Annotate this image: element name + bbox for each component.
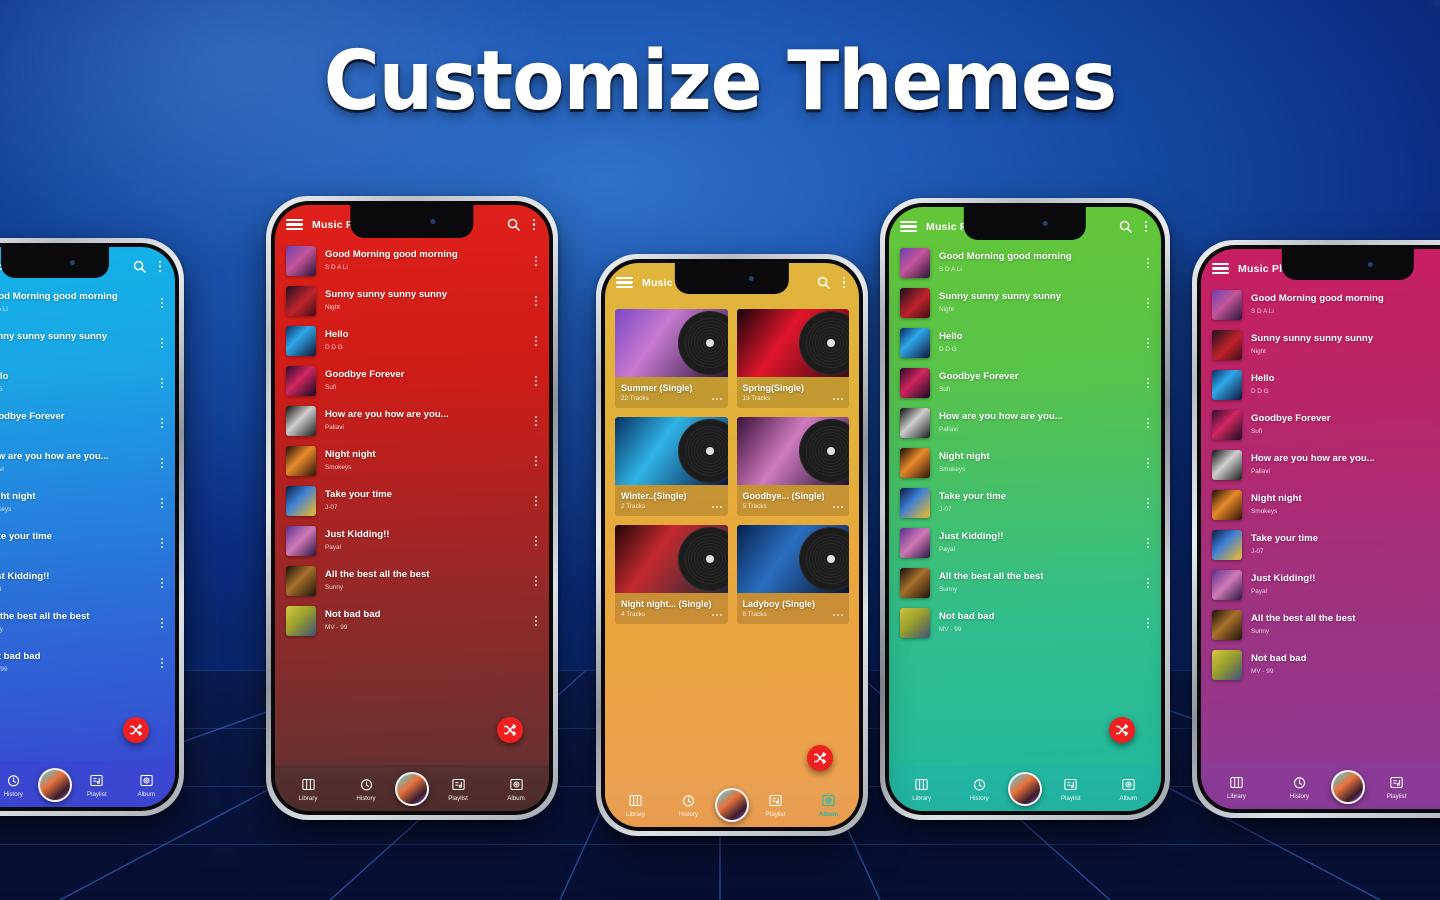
shuffle-fab-button[interactable]	[1109, 717, 1135, 743]
song-title: Not bad bad	[1251, 653, 1440, 665]
list-item[interactable]: Just Kidding!!Payal	[275, 521, 549, 561]
nav-label: Library	[299, 795, 318, 802]
album-art	[286, 446, 316, 476]
song-artist: Pallavi	[1251, 467, 1440, 477]
song-meta: All the best all the bestSunny	[1251, 613, 1440, 636]
album-footer: 2 Tracks	[615, 503, 728, 516]
nav-label: Album	[819, 811, 838, 818]
song-list[interactable]: Good Morning good morningS D A Li Sunny …	[1201, 285, 1440, 763]
row-overflow-icon[interactable]	[532, 496, 540, 506]
song-artist: D D G	[325, 343, 523, 353]
album-overflow-icon[interactable]	[712, 398, 722, 400]
nav-item-playlist[interactable]: Playlist	[1365, 775, 1428, 800]
song-artist: J-07	[0, 545, 149, 555]
nav-item-library[interactable]: Library	[893, 777, 951, 802]
song-title: Just Kidding!!	[1251, 573, 1440, 585]
song-title: Goodbye Forever	[939, 371, 1135, 383]
row-overflow-icon[interactable]	[532, 256, 540, 266]
song-meta: Take your timeJ-07	[0, 531, 149, 554]
album-overflow-icon[interactable]	[833, 614, 843, 616]
list-item[interactable]: HelloD D G	[0, 363, 175, 403]
nav-label: Library	[626, 811, 645, 818]
song-artist: Sufi	[939, 385, 1135, 395]
front-camera-icon	[70, 260, 75, 265]
nav-label: Playlist	[87, 791, 107, 798]
song-meta: Not bad badMV - 99	[0, 651, 149, 674]
album-cover	[737, 525, 850, 593]
row-overflow-icon[interactable]	[158, 538, 166, 548]
album-art	[900, 328, 930, 358]
song-meta: Just Kidding!!Payal	[939, 531, 1135, 554]
song-title: Not bad bad	[325, 609, 523, 621]
bottom-navigation-bar: Library History Playlist Album	[0, 761, 175, 807]
front-camera-icon	[430, 219, 435, 224]
song-list[interactable]: Good Morning good morningS D A Li Sunny …	[0, 283, 175, 761]
album-overflow-icon[interactable]	[833, 398, 843, 400]
album-track-count: 13 Tracks	[743, 395, 771, 402]
song-artist: J-07	[325, 503, 523, 513]
song-meta: Sunny sunny sunny sunnyNight	[0, 331, 149, 354]
album-cover	[737, 309, 850, 377]
song-artist: D D G	[1251, 387, 1440, 397]
nav-item-playlist[interactable]: Playlist	[72, 773, 122, 798]
row-overflow-icon[interactable]	[1144, 378, 1152, 388]
song-meta: Goodbye ForeverSufi	[1251, 413, 1440, 436]
nav-item-album[interactable]: Album	[1100, 777, 1158, 802]
list-item[interactable]: How are you how are you...Pallavi	[889, 403, 1161, 443]
song-title: Hello	[0, 371, 149, 383]
album-track-count: 2 Tracks	[621, 503, 645, 510]
phone-mockup-gold-theme: Music Player Summer (Single) 22 Tracks S…	[596, 254, 868, 836]
list-item[interactable]: Take your timeJ-07	[275, 481, 549, 521]
list-item[interactable]: All the best all the bestSunny	[0, 603, 175, 643]
list-item[interactable]: Just Kidding!!Payal	[1201, 565, 1440, 605]
song-artist: S D A Li	[325, 263, 523, 273]
nav-label: Library	[912, 795, 931, 802]
bottom-navigation-bar: Library History Playlist Album	[1201, 763, 1440, 809]
album-art	[286, 606, 316, 636]
row-overflow-icon[interactable]	[158, 458, 166, 468]
song-artist: Payal	[325, 543, 523, 553]
song-artist: MV - 99	[0, 665, 149, 675]
song-artist: D D G	[0, 385, 149, 395]
row-overflow-icon[interactable]	[1144, 418, 1152, 428]
album-cover	[615, 417, 728, 485]
nav-item-album[interactable]: Album	[802, 793, 855, 818]
hamburger-icon[interactable]	[616, 277, 633, 289]
row-overflow-icon[interactable]	[532, 416, 540, 426]
album-overflow-icon[interactable]	[712, 506, 722, 508]
row-overflow-icon[interactable]	[158, 498, 166, 508]
album-card[interactable]: Summer (Single) 22 Tracks	[615, 309, 728, 408]
hamburger-icon[interactable]	[1212, 263, 1229, 275]
row-overflow-icon[interactable]	[1144, 618, 1152, 628]
row-overflow-icon[interactable]	[158, 658, 166, 668]
search-icon[interactable]	[1118, 219, 1133, 234]
row-overflow-icon[interactable]	[1144, 258, 1152, 268]
album-art	[286, 286, 316, 316]
app-screen-pink: Music Player Good Morning good morningS …	[1201, 249, 1440, 809]
song-title: All the best all the best	[939, 571, 1135, 583]
history-clock-icon	[6, 773, 21, 788]
song-list[interactable]: Good Morning good morningS D A Li Sunny …	[275, 241, 549, 765]
row-overflow-icon[interactable]	[1144, 498, 1152, 508]
album-icon	[821, 793, 836, 808]
song-artist: Sufi	[1251, 427, 1440, 437]
nav-item-library[interactable]: Library	[279, 777, 337, 802]
app-screen-cyan: Music Player Good Morning good morningS …	[0, 247, 175, 807]
album-cover	[737, 417, 850, 485]
nav-item-history[interactable]: History	[951, 777, 1009, 802]
song-title: Night night	[939, 451, 1135, 463]
nav-label: History	[356, 795, 375, 802]
nav-label: History	[970, 795, 989, 802]
list-item[interactable]: How are you how are you...Pallavi	[275, 401, 549, 441]
user-avatar[interactable]	[395, 772, 429, 806]
row-overflow-icon[interactable]	[158, 298, 166, 308]
phone-body: Music Player Good Morning good morningS …	[271, 201, 553, 815]
nav-item-library[interactable]: Library	[609, 793, 662, 818]
song-list[interactable]: Good Morning good morningS D A Li Sunny …	[889, 243, 1161, 765]
list-item[interactable]: Sunny sunny sunny sunnyNight	[0, 323, 175, 363]
song-title: Good Morning good morning	[1251, 293, 1440, 305]
album-art	[900, 448, 930, 478]
search-icon[interactable]	[506, 217, 521, 232]
song-artist: Night	[0, 345, 149, 355]
song-title: Hello	[939, 331, 1135, 343]
song-title: Good Morning good morning	[939, 251, 1135, 263]
nav-item-history[interactable]: History	[0, 773, 38, 798]
song-artist: Payal	[939, 545, 1135, 555]
list-item[interactable]: Take your timeJ-07	[0, 523, 175, 563]
list-item[interactable]: All the best all the bestSunny	[275, 561, 549, 601]
list-item[interactable]: Take your timeJ-07	[889, 483, 1161, 523]
song-artist: Pallavi	[939, 425, 1135, 435]
nav-item-history[interactable]: History	[337, 777, 395, 802]
list-item[interactable]: Sunny sunny sunny sunnyNight	[1201, 325, 1440, 365]
user-avatar[interactable]	[1331, 770, 1365, 804]
song-artist: Sunny	[0, 625, 149, 635]
nav-item-playlist[interactable]: Playlist	[1042, 777, 1100, 802]
list-item[interactable]: Goodbye ForeverSufi	[889, 363, 1161, 403]
three-dot-menu-icon[interactable]	[530, 219, 538, 230]
song-artist: J-07	[939, 505, 1135, 515]
list-item[interactable]: Goodbye ForeverSufi	[275, 361, 549, 401]
song-meta: Night nightSmokeys	[325, 449, 523, 472]
row-overflow-icon[interactable]	[532, 536, 540, 546]
nav-item-playlist[interactable]: Playlist	[749, 793, 802, 818]
song-title: How are you how are you...	[1251, 453, 1440, 465]
row-overflow-icon[interactable]	[532, 616, 540, 626]
song-artist: S D A Li	[939, 265, 1135, 275]
album-name: Winter..(Single)	[615, 485, 728, 503]
list-item[interactable]: Night nightSmokeys	[1201, 485, 1440, 525]
song-artist: J-07	[1251, 547, 1440, 557]
phone-mockup-green-theme: Music Player Good Morning good morningS …	[880, 198, 1170, 820]
phone-mockup-cyan-theme: Music Player Good Morning good morningS …	[0, 238, 184, 816]
album-footer: 22 Tracks	[615, 395, 728, 408]
album-art	[1212, 410, 1242, 440]
row-overflow-icon[interactable]	[1144, 338, 1152, 348]
row-overflow-icon[interactable]	[158, 618, 166, 628]
song-title: Goodbye Forever	[0, 411, 149, 423]
song-artist: S D A Li	[1251, 307, 1440, 317]
album-card[interactable]: Spring(Single) 13 Tracks	[737, 309, 850, 408]
nav-label: Library	[1227, 793, 1246, 800]
nav-label: Playlist	[1387, 793, 1407, 800]
list-item[interactable]: Not bad badMV - 99	[1201, 645, 1440, 685]
album-art	[286, 366, 316, 396]
album-name: Spring(Single)	[737, 377, 850, 395]
history-clock-icon	[972, 777, 987, 792]
song-meta: Good Morning good morningS D A Li	[939, 251, 1135, 274]
row-overflow-icon[interactable]	[1144, 538, 1152, 548]
song-artist: MV - 99	[939, 625, 1135, 635]
row-overflow-icon[interactable]	[532, 336, 540, 346]
song-meta: Just Kidding!!Payal	[1251, 573, 1440, 596]
album-art	[900, 408, 930, 438]
shuffle-fab-button[interactable]	[807, 745, 833, 771]
app-screen-green: Music Player Good Morning good morningS …	[889, 207, 1161, 811]
list-item[interactable]: Just Kidding!!Payal	[0, 563, 175, 603]
three-dot-menu-icon[interactable]	[1142, 221, 1150, 232]
list-item[interactable]: Not bad badMV - 99	[889, 603, 1161, 643]
nav-item-history[interactable]: History	[1268, 775, 1331, 800]
album-name: Ladyboy (Single)	[737, 593, 850, 611]
song-title: Not bad bad	[939, 611, 1135, 623]
song-title: All the best all the best	[325, 569, 523, 581]
song-title: Not bad bad	[0, 651, 149, 663]
phone-body: Music Player Good Morning good morningS …	[0, 243, 179, 811]
list-item[interactable]: Just Kidding!!Payal	[889, 523, 1161, 563]
album-card[interactable]: Goodbye... (Single) 5 Tracks	[737, 417, 850, 516]
list-item[interactable]: Good Morning good morningS D A Li	[0, 283, 175, 323]
song-meta: Goodbye ForeverSufi	[939, 371, 1135, 394]
playlist-icon	[1063, 777, 1078, 792]
nav-item-playlist[interactable]: Playlist	[429, 777, 487, 802]
nav-item-album[interactable]: Album	[487, 777, 545, 802]
album-track-count: 22 Tracks	[621, 395, 649, 402]
album-art	[1212, 450, 1242, 480]
album-track-count: 5 Tracks	[743, 503, 767, 510]
song-meta: Not bad badMV - 99	[325, 609, 523, 632]
list-item[interactable]: Night nightSmokeys	[889, 443, 1161, 483]
app-screen-red: Music Player Good Morning good morningS …	[275, 205, 549, 811]
album-name: Summer (Single)	[615, 377, 728, 395]
history-clock-icon	[359, 777, 374, 792]
song-meta: Take your timeJ-07	[325, 489, 523, 512]
list-item[interactable]: Take your timeJ-07	[1201, 525, 1440, 565]
user-avatar[interactable]	[715, 788, 749, 822]
phone-notch	[1282, 249, 1414, 280]
page-headline: Customize Themes	[50, 34, 1389, 129]
list-item[interactable]: Goodbye ForeverSufi	[0, 403, 175, 443]
song-artist: Pallavi	[0, 465, 149, 475]
shuffle-fab-button[interactable]	[497, 717, 523, 743]
album-overflow-icon[interactable]	[833, 506, 843, 508]
song-title: Hello	[325, 329, 523, 341]
album-cover	[615, 309, 728, 377]
song-artist: Sufi	[0, 425, 149, 435]
song-title: Hello	[1251, 373, 1440, 385]
song-artist: Night	[939, 305, 1135, 315]
playlist-icon	[451, 777, 466, 792]
album-art	[900, 368, 930, 398]
phone-mockup-red-theme: Music Player Good Morning good morningS …	[266, 196, 558, 820]
vinyl-record-icon	[799, 419, 849, 483]
list-item[interactable]: How are you how are you...Pallavi	[1201, 445, 1440, 485]
album-art	[286, 526, 316, 556]
row-overflow-icon[interactable]	[532, 576, 540, 586]
list-item[interactable]: How are you how are you...Pallavi	[0, 443, 175, 483]
phone-notch	[350, 205, 473, 238]
album-grid[interactable]: Summer (Single) 22 Tracks Spring(Single)…	[605, 299, 859, 781]
album-card[interactable]: Winter..(Single) 2 Tracks	[615, 417, 728, 516]
row-overflow-icon[interactable]	[158, 338, 166, 348]
song-artist: S D A Li	[0, 305, 149, 315]
list-item[interactable]: Goodbye ForeverSufi	[1201, 405, 1440, 445]
song-title: Sunny sunny sunny sunny	[939, 291, 1135, 303]
list-item[interactable]: HelloD D G	[275, 321, 549, 361]
song-meta: Sunny sunny sunny sunnyNight	[325, 289, 523, 312]
nav-item-album[interactable]: Album	[122, 773, 172, 798]
album-footer: 5 Tracks	[737, 503, 850, 516]
album-card[interactable]: Night night... (Single) 4 Tracks	[615, 525, 728, 624]
song-meta: HelloD D G	[325, 329, 523, 352]
row-overflow-icon[interactable]	[1144, 578, 1152, 588]
library-icon	[1229, 775, 1244, 790]
song-title: All the best all the best	[0, 611, 149, 623]
front-camera-icon	[749, 276, 754, 281]
search-icon[interactable]	[816, 275, 831, 290]
vinyl-record-icon	[678, 419, 728, 483]
phone-body: Music Player Good Morning good morningS …	[1197, 245, 1440, 813]
library-icon	[628, 793, 643, 808]
song-title: Take your time	[1251, 533, 1440, 545]
history-clock-icon	[1292, 775, 1307, 790]
list-item[interactable]: Not bad badMV - 99	[275, 601, 549, 641]
three-dot-menu-icon[interactable]	[156, 261, 164, 272]
album-art	[1212, 490, 1242, 520]
shuffle-fab-button[interactable]	[123, 717, 149, 743]
album-art	[1212, 610, 1242, 640]
bottom-navigation-bar: Library History Playlist Album	[605, 781, 859, 827]
row-overflow-icon[interactable]	[1144, 458, 1152, 468]
song-meta: Good Morning good morningS D A Li	[1251, 293, 1440, 316]
album-icon	[1121, 777, 1136, 792]
song-artist: Smokeys	[0, 505, 149, 515]
album-card[interactable]: Ladyboy (Single) 8 Tracks	[737, 525, 850, 624]
row-overflow-icon[interactable]	[532, 376, 540, 386]
song-meta: Night nightSmokeys	[0, 491, 149, 514]
album-overflow-icon[interactable]	[712, 614, 722, 616]
nav-item-library[interactable]: Library	[1205, 775, 1268, 800]
song-artist: Smokeys	[325, 463, 523, 473]
song-artist: Pallavi	[325, 423, 523, 433]
song-title: Take your time	[0, 531, 149, 543]
nav-label: History	[4, 791, 23, 798]
song-meta: Sunny sunny sunny sunnyNight	[1251, 333, 1440, 356]
list-item[interactable]: Night nightSmokeys	[0, 483, 175, 523]
song-meta: How are you how are you...Pallavi	[939, 411, 1135, 434]
user-avatar[interactable]	[38, 768, 72, 802]
album-track-count: 8 Tracks	[743, 611, 767, 618]
song-meta: Not bad badMV - 99	[1251, 653, 1440, 676]
playlist-icon	[89, 773, 104, 788]
hamburger-icon[interactable]	[900, 221, 917, 233]
album-art	[286, 406, 316, 436]
nav-item-album[interactable]: Album	[1428, 775, 1440, 800]
nav-label: History	[679, 811, 698, 818]
vinyl-record-icon	[799, 527, 849, 591]
row-overflow-icon[interactable]	[158, 378, 166, 388]
album-icon	[139, 773, 154, 788]
list-item[interactable]: All the best all the bestSunny	[1201, 605, 1440, 645]
nav-item-history[interactable]: History	[662, 793, 715, 818]
user-avatar[interactable]	[1008, 772, 1042, 806]
list-item[interactable]: Good Morning good morningS D A Li	[275, 241, 549, 281]
song-meta: How are you how are you...Pallavi	[325, 409, 523, 432]
three-dot-menu-icon[interactable]	[840, 277, 848, 288]
album-art	[1212, 290, 1242, 320]
nav-label: Album	[137, 791, 155, 798]
search-icon[interactable]	[132, 259, 147, 274]
list-item[interactable]: Sunny sunny sunny sunnyNight	[275, 281, 549, 321]
app-screen-gold: Music Player Summer (Single) 22 Tracks S…	[605, 263, 859, 827]
song-meta: Night nightSmokeys	[939, 451, 1135, 474]
list-item[interactable]: All the best all the bestSunny	[889, 563, 1161, 603]
nav-label: Album	[507, 795, 525, 802]
album-footer: 8 Tracks	[737, 611, 850, 624]
song-artist: Sunny	[325, 583, 523, 593]
song-meta: HelloD D G	[1251, 373, 1440, 396]
row-overflow-icon[interactable]	[532, 296, 540, 306]
row-overflow-icon[interactable]	[1144, 298, 1152, 308]
list-item[interactable]: HelloD D G	[1201, 365, 1440, 405]
list-item[interactable]: HelloD D G	[889, 323, 1161, 363]
song-meta: Take your timeJ-07	[1251, 533, 1440, 556]
list-item[interactable]: Not bad badMV - 99	[0, 643, 175, 683]
row-overflow-icon[interactable]	[158, 418, 166, 428]
song-meta: HelloD D G	[0, 371, 149, 394]
list-item[interactable]: Sunny sunny sunny sunnyNight	[889, 283, 1161, 323]
album-art	[286, 246, 316, 276]
song-meta: All the best all the bestSunny	[0, 611, 149, 634]
album-footer: 4 Tracks	[615, 611, 728, 624]
album-art	[900, 608, 930, 638]
song-artist: Payal	[1251, 587, 1440, 597]
row-overflow-icon[interactable]	[532, 456, 540, 466]
song-meta: Take your timeJ-07	[939, 491, 1135, 514]
front-camera-icon	[1043, 221, 1048, 226]
album-art	[1212, 570, 1242, 600]
song-meta: Good Morning good morningS D A Li	[325, 249, 523, 272]
album-cover	[615, 525, 728, 593]
list-item[interactable]: Good Morning good morningS D A Li	[1201, 285, 1440, 325]
song-title: Goodbye Forever	[325, 369, 523, 381]
list-item[interactable]: Night nightSmokeys	[275, 441, 549, 481]
album-art	[286, 326, 316, 356]
list-item[interactable]: Good Morning good morningS D A Li	[889, 243, 1161, 283]
album-art	[900, 568, 930, 598]
row-overflow-icon[interactable]	[158, 578, 166, 588]
song-title: Take your time	[325, 489, 523, 501]
song-title: How are you how are you...	[0, 451, 149, 463]
hamburger-icon[interactable]	[286, 219, 303, 231]
song-title: Take your time	[939, 491, 1135, 503]
song-meta: Goodbye ForeverSufi	[325, 369, 523, 392]
library-icon	[914, 777, 929, 792]
